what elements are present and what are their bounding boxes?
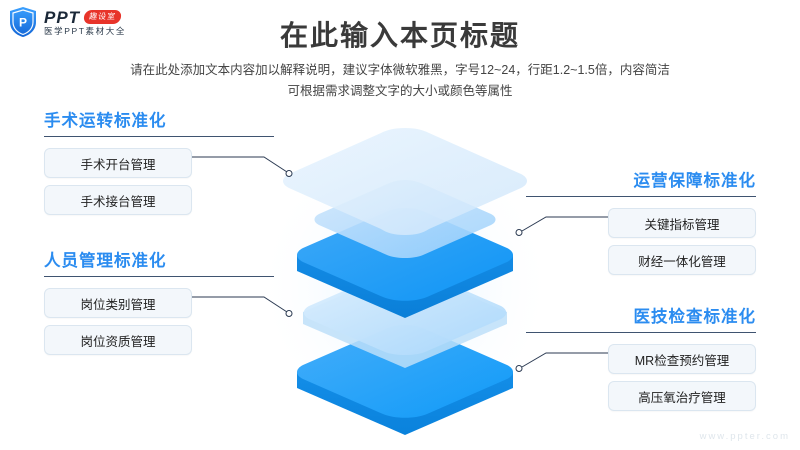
page-subtitle: 请在此处添加文本内容加以解释说明，建议字体微软雅黑，字号12~24，行距1.2~… [0,60,800,101]
group-surgery: 手术运转标准化 手术开台管理 手术接台管理 [44,112,274,215]
subtitle-line-1: 请在此处添加文本内容加以解释说明，建议字体微软雅黑，字号12~24，行距1.2~… [0,60,800,81]
group-operations-rule [526,196,756,197]
list-item[interactable]: 岗位类别管理 [44,288,192,318]
slide: P PPT 趣设室 医学PPT素材大全 在此输入本页标题 请在此处添加文本内容加… [0,0,800,450]
group-medtech-heading: 医技检查标准化 [526,308,756,326]
list-item[interactable]: 手术开台管理 [44,148,192,178]
group-medtech: 医技检查标准化 MR检查预约管理 高压氧治疗管理 [526,308,756,411]
list-item[interactable]: 财经一体化管理 [608,245,756,275]
group-personnel: 人员管理标准化 岗位类别管理 岗位资质管理 [44,252,274,355]
isometric-layer-stack-graphic [255,120,555,440]
footer-watermark: www.ppter.com [700,431,790,442]
list-item[interactable]: 关键指标管理 [608,208,756,238]
list-item[interactable]: 高压氧治疗管理 [608,381,756,411]
list-item[interactable]: MR检查预约管理 [608,344,756,374]
group-medtech-rule [526,332,756,333]
group-operations: 运营保障标准化 关键指标管理 财经一体化管理 [526,172,756,275]
group-personnel-rule [44,276,274,277]
group-personnel-heading: 人员管理标准化 [44,252,274,270]
subtitle-line-2: 可根据需求调整文字的大小或颜色等属性 [0,81,800,102]
group-surgery-rule [44,136,274,137]
group-operations-heading: 运营保障标准化 [526,172,756,190]
page-title: 在此输入本页标题 [0,14,800,54]
list-item[interactable]: 手术接台管理 [44,185,192,215]
list-item[interactable]: 岗位资质管理 [44,325,192,355]
group-surgery-heading: 手术运转标准化 [44,112,274,130]
